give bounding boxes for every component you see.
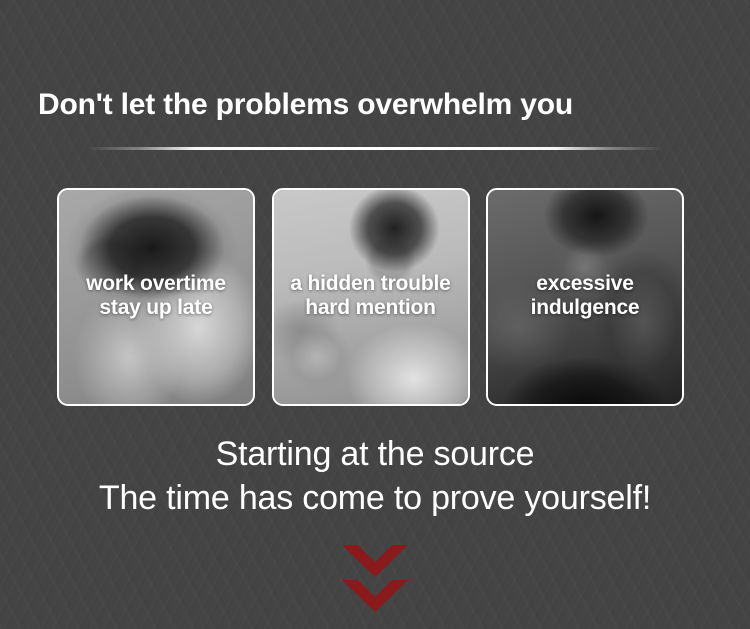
card-hidden-trouble[interactable]: a hidden trouble hard mention <box>272 188 470 406</box>
closing-line-1: Starting at the source <box>0 432 750 476</box>
card-work-overtime[interactable]: work overtime stay up late <box>57 188 255 406</box>
card-label: excessive indulgence <box>488 272 682 320</box>
page-title: Don't let the problems overwhelm you <box>38 86 573 124</box>
card-label-line1: excessive <box>536 272 633 295</box>
chevron-down-icon <box>342 545 408 577</box>
divider <box>40 147 710 150</box>
scroll-hint <box>0 545 750 612</box>
card-label-line2: stay up late <box>99 296 212 319</box>
card-excessive-indulgence[interactable]: excessive indulgence <box>486 188 684 406</box>
card-label-line2: indulgence <box>531 296 640 319</box>
closing-line-2: The time has come to prove yourself! <box>0 476 750 520</box>
card-label-line1: a hidden trouble <box>290 272 450 295</box>
card-label: work overtime stay up late <box>59 272 253 320</box>
card-list: work overtime stay up late a hidden trou… <box>57 188 684 406</box>
chevron-down-icon <box>342 580 408 612</box>
card-label-line1: work overtime <box>86 272 226 295</box>
promo-banner: Don't let the problems overwhelm you wor… <box>0 0 750 629</box>
card-label-line2: hard mention <box>305 296 436 319</box>
closing-copy: Starting at the source The time has come… <box>0 432 750 520</box>
card-label: a hidden trouble hard mention <box>274 272 468 320</box>
